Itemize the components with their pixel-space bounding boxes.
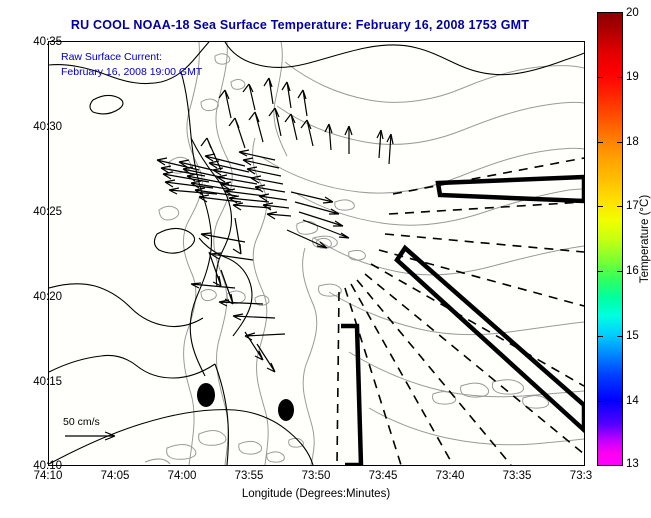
x-tick-4: 73:50 — [302, 470, 331, 482]
x-tick-8: 73:3 — [570, 470, 592, 482]
colorbar-tick-7: 13 — [626, 458, 639, 470]
x-axis-label: Longitude (Degrees:Minutes) — [242, 488, 390, 500]
temperature-colorbar[interactable] — [597, 12, 623, 466]
x-tick-0: 74:10 — [34, 470, 63, 482]
x-tick-2: 74:00 — [168, 470, 197, 482]
station-marker-group — [197, 383, 294, 421]
colorbar-tick-6: 14 — [626, 395, 639, 407]
map-canvas — [49, 42, 584, 465]
station-marker — [278, 399, 294, 421]
y-tick-1: 40:30 — [33, 121, 62, 133]
y-tick-0: 40:35 — [33, 36, 62, 48]
map-plot-area[interactable]: Raw Surface Current: February 16, 2008 1… — [48, 41, 585, 466]
page-title: RU COOL NOAA-18 Sea Surface Temperature:… — [0, 18, 600, 32]
y-tick-3: 40:20 — [33, 291, 62, 303]
x-tick-1: 74:05 — [101, 470, 130, 482]
scale-bar-label: 50 cm/s — [63, 416, 123, 428]
colorbar-tick-1: 19 — [626, 71, 639, 83]
shipping-lane-group — [341, 177, 584, 465]
x-tick-5: 73:45 — [369, 470, 398, 482]
colorbar-tick-3: 17 — [626, 200, 639, 212]
station-marker — [197, 383, 215, 407]
x-tick-7: 73:35 — [503, 470, 532, 482]
annotation-line-1: Raw Surface Current: — [61, 50, 202, 65]
colorbar-tick-0: 20 — [626, 7, 639, 19]
scale-bar: 50 cm/s — [63, 416, 123, 447]
y-tick-4: 40:15 — [33, 376, 62, 388]
colorbar-label: Temperature (°C) — [639, 195, 651, 283]
x-tick-6: 73:40 — [436, 470, 465, 482]
traffic-separation-dashed-group — [337, 158, 584, 465]
coastline-group — [49, 42, 584, 465]
colorbar-tick-2: 18 — [626, 136, 639, 148]
x-tick-3: 73:55 — [235, 470, 264, 482]
colorbar-tick-5: 15 — [626, 330, 639, 342]
colorbar-tick-4: 16 — [626, 265, 639, 277]
right-arrow-icon — [63, 430, 123, 442]
annotation-line-2: February 16, 2008 19:00 GMT — [61, 65, 202, 80]
y-tick-2: 40:25 — [33, 206, 62, 218]
current-annotation: Raw Surface Current: February 16, 2008 1… — [61, 50, 202, 80]
